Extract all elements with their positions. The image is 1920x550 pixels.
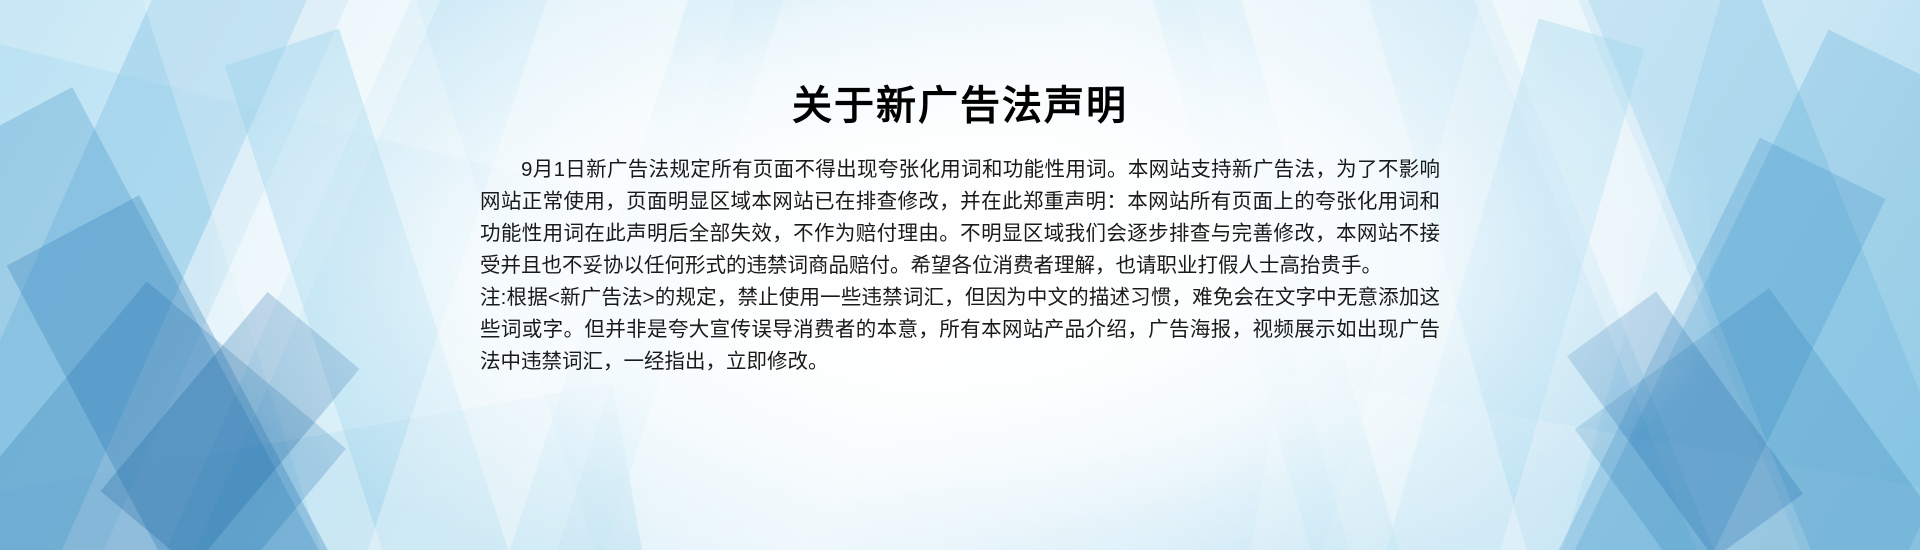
advertising-law-statement-banner: 关于新广告法声明 9月1日新广告法规定所有页面不得出现夸张化用词和功能性用词。本… (0, 0, 1920, 550)
statement-paragraph-main: 9月1日新广告法规定所有页面不得出现夸张化用词和功能性用词。本网站支持新广告法，… (480, 154, 1440, 282)
statement-content: 关于新广告法声明 9月1日新广告法规定所有页面不得出现夸张化用词和功能性用词。本… (0, 0, 1920, 550)
statement-paragraph-note: 注:根据<新广告法>的规定，禁止使用一些违禁词汇，但因为中文的描述习惯，难免会在… (480, 282, 1440, 378)
statement-body: 9月1日新广告法规定所有页面不得出现夸张化用词和功能性用词。本网站支持新广告法，… (480, 154, 1440, 378)
page-title: 关于新广告法声明 (792, 82, 1128, 130)
